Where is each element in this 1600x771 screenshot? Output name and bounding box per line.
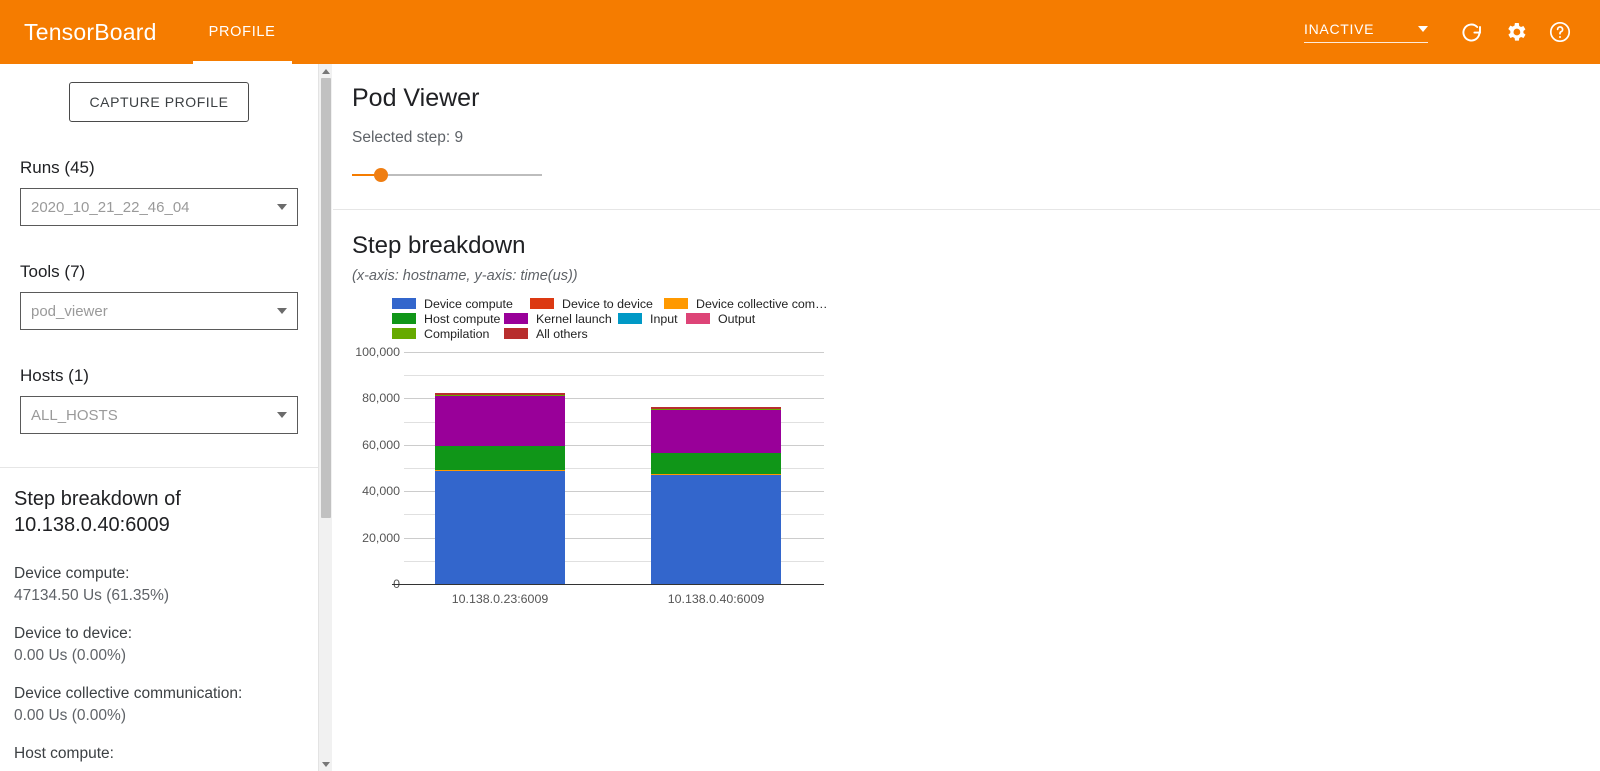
main-content: Pod Viewer Selected step: 9 Step breakdo…: [333, 64, 1600, 771]
sidebar-scrollbar-thumb[interactable]: [321, 78, 331, 518]
step-slider-knob[interactable]: [374, 168, 388, 182]
brand-title: TensorBoard: [0, 0, 157, 64]
hosts-select[interactable]: ALL_HOSTS: [20, 396, 298, 434]
detail-key: Device compute:: [14, 563, 298, 585]
run-state-dropdown[interactable]: INACTIVE: [1304, 21, 1428, 43]
legend-swatch: [504, 328, 528, 339]
legend-item[interactable]: Input: [618, 312, 680, 326]
x-axis-line: [392, 584, 824, 585]
tools-select-value: pod_viewer: [31, 303, 271, 320]
y-axis-tick-label: 40,000: [352, 484, 400, 498]
bar-segment[interactable]: [435, 396, 565, 446]
run-state-label: INACTIVE: [1304, 21, 1418, 37]
legend-label: Kernel launch: [536, 312, 612, 326]
detail-row: Host compute:: [14, 743, 298, 765]
detail-value: 0.00 Us (0.00%): [14, 705, 298, 727]
grid-line: [404, 352, 824, 353]
triangle-up-icon: [322, 69, 330, 74]
triangle-down-icon: [322, 762, 330, 767]
runs-field-group: Runs (45) 2020_10_21_22_46_04: [0, 158, 318, 226]
detail-row: Device collective communication: 0.00 Us…: [14, 683, 298, 728]
bar-stack[interactable]: [435, 393, 565, 584]
reload-icon[interactable]: [1450, 10, 1494, 54]
legend-label: Compilation: [424, 327, 489, 341]
capture-profile-button[interactable]: CAPTURE PROFILE: [69, 82, 250, 122]
detail-key: Device collective communication:: [14, 683, 298, 705]
help-icon[interactable]: [1538, 10, 1582, 54]
chart-title: Step breakdown: [352, 232, 1600, 260]
app-bar: TensorBoard PROFILE INACTIVE: [0, 0, 1600, 64]
legend-swatch: [664, 298, 688, 309]
tools-field-group: Tools (7) pod_viewer: [0, 262, 318, 330]
legend-swatch: [392, 328, 416, 339]
x-axis-tick-label: 10.138.0.40:6009: [668, 592, 764, 606]
step-breakdown-chart: Device computeDevice to deviceDevice col…: [352, 296, 872, 601]
chevron-down-icon: [1418, 26, 1428, 32]
legend-label: All others: [536, 327, 588, 341]
app-bar-actions: INACTIVE: [1304, 0, 1600, 64]
chart-plot-area: 020,00040,00060,00080,000100,00010.138.0…: [352, 344, 862, 594]
legend-swatch: [618, 313, 642, 324]
detail-key: Host compute:: [14, 743, 298, 765]
detail-panel-title: Step breakdown of 10.138.0.40:6009: [14, 486, 249, 539]
y-axis-tick-label: 60,000: [352, 438, 400, 452]
legend-item[interactable]: Host compute: [392, 312, 498, 326]
legend-item[interactable]: Device collective com…: [664, 297, 824, 311]
y-axis-tick-label: 100,000: [352, 345, 400, 359]
y-axis-tick-label: 80,000: [352, 391, 400, 405]
grid-line: [404, 375, 824, 376]
legend-row: CompilationAll others: [392, 326, 862, 341]
main-divider: [333, 209, 1600, 210]
legend-swatch: [392, 313, 416, 324]
detail-value: 0.00 Us (0.00%): [14, 645, 298, 667]
step-breakdown-detail-panel: Step breakdown of 10.138.0.40:6009 Devic…: [0, 468, 318, 765]
bar-segment[interactable]: [651, 453, 781, 474]
legend-row: Host computeKernel launchInputOutput: [392, 311, 862, 326]
legend-item[interactable]: Output: [686, 312, 772, 326]
x-axis-tick-label: 10.138.0.23:6009: [452, 592, 548, 606]
chevron-down-icon: [277, 204, 287, 210]
chart-subtitle: (x-axis: hostname, y-axis: time(us)): [352, 268, 1600, 284]
y-axis-tick-label: 20,000: [352, 531, 400, 545]
runs-select-value: 2020_10_21_22_46_04: [31, 199, 271, 216]
sidebar-scrollbar[interactable]: [318, 64, 332, 771]
legend-item[interactable]: All others: [504, 327, 604, 341]
legend-label: Device to device: [562, 297, 653, 311]
tab-profile[interactable]: PROFILE: [193, 0, 292, 64]
bar-segment[interactable]: [651, 410, 781, 452]
hosts-label: Hosts (1): [20, 366, 298, 386]
page-title: Pod Viewer: [352, 84, 1600, 113]
scroll-down-arrow[interactable]: [319, 757, 333, 771]
hosts-select-value: ALL_HOSTS: [31, 407, 271, 424]
capture-profile-wrap: CAPTURE PROFILE: [0, 64, 318, 122]
bar-segment[interactable]: [435, 471, 565, 584]
legend-label: Device collective com…: [696, 297, 828, 311]
bar-segment[interactable]: [651, 475, 781, 584]
legend-label: Device compute: [424, 297, 513, 311]
nav-tabs: PROFILE: [193, 0, 292, 64]
tools-label: Tools (7): [20, 262, 298, 282]
detail-value: 47134.50 Us (61.35%): [14, 585, 298, 607]
runs-select[interactable]: 2020_10_21_22_46_04: [20, 188, 298, 226]
legend-label: Host compute: [424, 312, 500, 326]
legend-item[interactable]: Device compute: [392, 297, 524, 311]
gear-icon[interactable]: [1494, 10, 1538, 54]
bar-stack[interactable]: [651, 407, 781, 584]
hosts-field-group: Hosts (1) ALL_HOSTS: [0, 366, 318, 434]
legend-label: Input: [650, 312, 678, 326]
runs-label: Runs (45): [20, 158, 298, 178]
legend-swatch: [392, 298, 416, 309]
tools-select[interactable]: pod_viewer: [20, 292, 298, 330]
bar-segment[interactable]: [435, 446, 565, 470]
legend-item[interactable]: Kernel launch: [504, 312, 612, 326]
legend-swatch: [686, 313, 710, 324]
legend-item[interactable]: Device to device: [530, 297, 658, 311]
chart-legend: Device computeDevice to deviceDevice col…: [392, 296, 862, 341]
step-slider[interactable]: [352, 165, 542, 185]
chevron-down-icon: [277, 308, 287, 314]
scroll-up-arrow[interactable]: [319, 64, 333, 78]
legend-label: Output: [718, 312, 755, 326]
legend-row: Device computeDevice to deviceDevice col…: [392, 296, 862, 311]
detail-row: Device to device: 0.00 Us (0.00%): [14, 623, 298, 668]
app-bar-spacer: [292, 0, 1304, 64]
detail-key: Device to device:: [14, 623, 298, 645]
legend-swatch: [530, 298, 554, 309]
sidebar: CAPTURE PROFILE Runs (45) 2020_10_21_22_…: [0, 64, 318, 771]
detail-row: Device compute: 47134.50 Us (61.35%): [14, 563, 298, 608]
chevron-down-icon: [277, 412, 287, 418]
legend-item[interactable]: Compilation: [392, 327, 498, 341]
selected-step-label: Selected step: 9: [352, 129, 1600, 147]
legend-swatch: [504, 313, 528, 324]
